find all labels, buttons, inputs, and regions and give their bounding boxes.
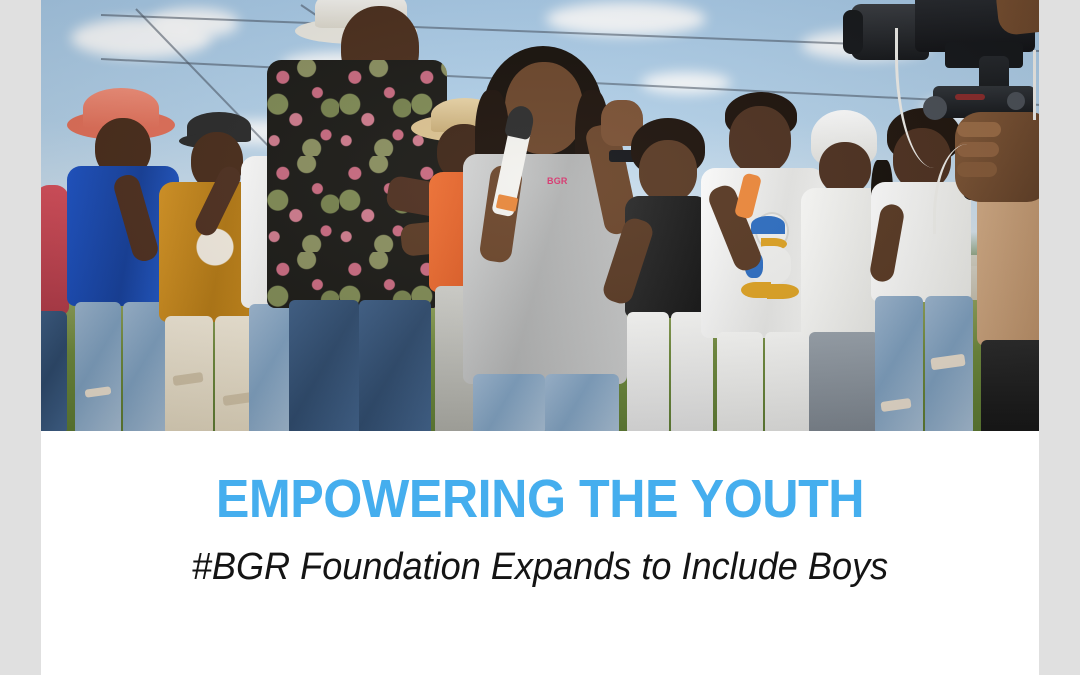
control-dial	[1007, 92, 1025, 110]
control-accent	[955, 94, 985, 100]
cloud	[546, 2, 706, 36]
finger	[957, 122, 1001, 137]
bgr-logo: BGR	[547, 176, 568, 186]
right-gutter	[1039, 0, 1080, 675]
poster-content: BGR	[41, 0, 1039, 675]
lens-hood	[843, 10, 863, 54]
hero-photo: BGR	[41, 0, 1039, 431]
left-gutter	[0, 0, 41, 675]
camera-cable	[1033, 50, 1039, 120]
camera-cable	[895, 28, 944, 168]
caption-block: EMPOWERING THE YOUTH #BGR Foundation Exp…	[41, 431, 1039, 675]
poster: BGR	[0, 0, 1080, 675]
gimbal-camera-rig	[837, 0, 1039, 204]
headline: EMPOWERING THE YOUTH	[76, 470, 1004, 528]
cloud	[149, 8, 239, 38]
subheadline: #BGR Foundation Expands to Include Boys	[66, 545, 1014, 589]
